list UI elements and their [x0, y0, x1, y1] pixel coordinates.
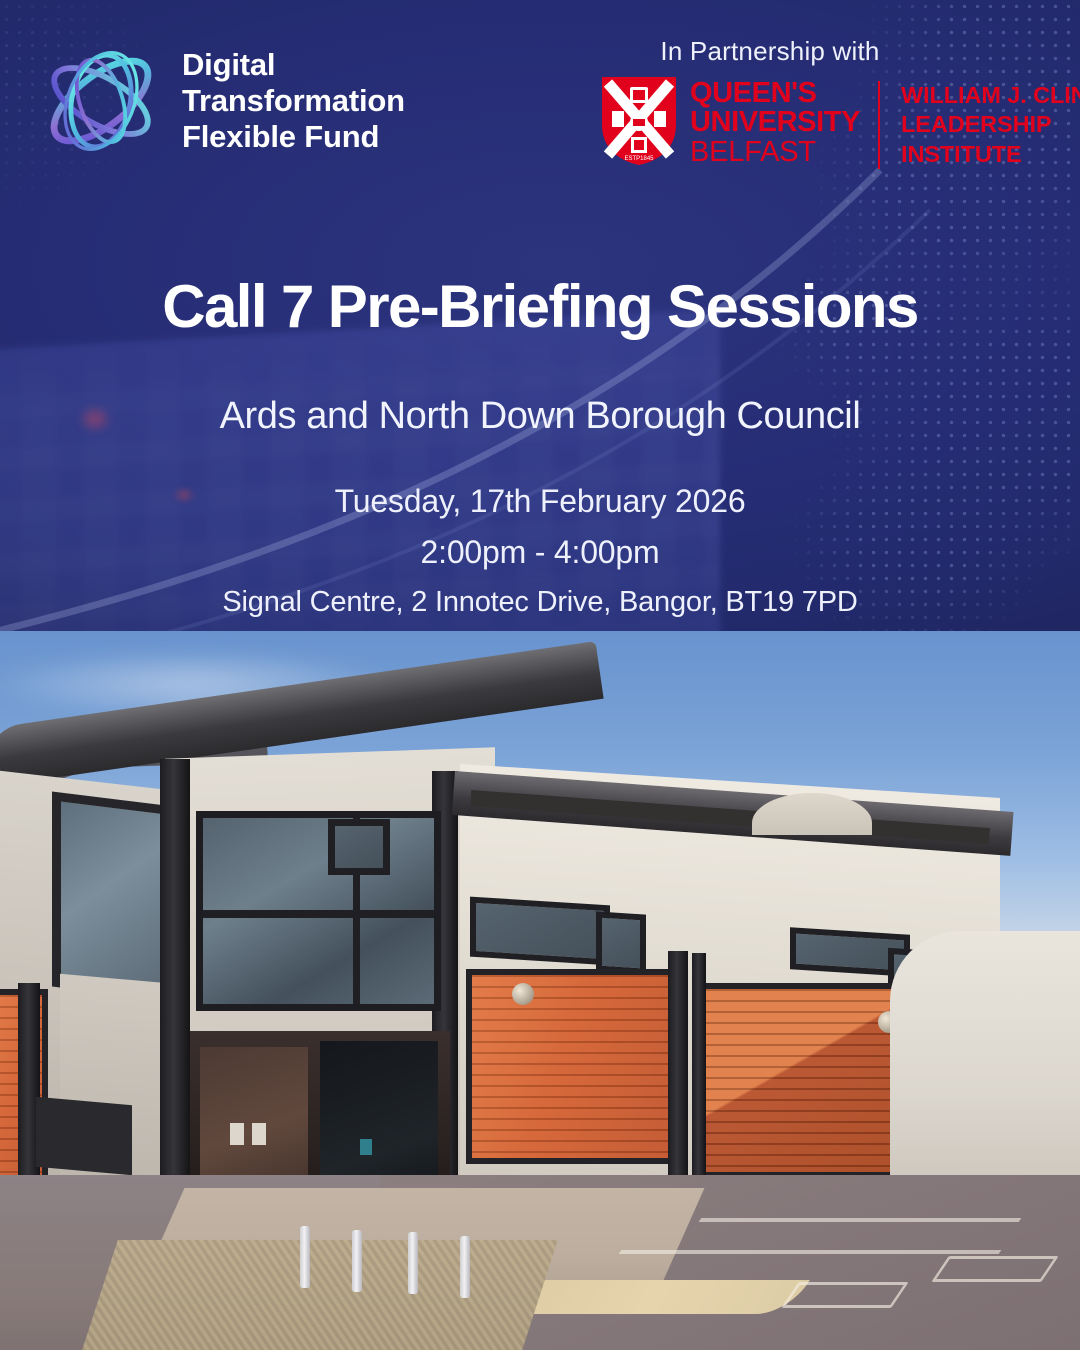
qub-line-2: UNIVERSITY [690, 108, 860, 137]
event-poster: Digital Transformation Flexible Fund In … [0, 0, 1080, 1350]
venue-photo [0, 631, 1080, 1350]
timber-cladding-1 [466, 969, 676, 1164]
left-dark-panel [36, 1097, 132, 1175]
brand-name: Digital Transformation Flexible Fund [182, 47, 405, 156]
event-time: 2:00pm - 4:00pm [0, 534, 1080, 571]
bollard [460, 1236, 470, 1298]
partnership-label: In Partnership with [560, 36, 980, 67]
qub-line-1: QUEEN'S [690, 79, 860, 108]
entrance-sign-1 [230, 1123, 244, 1145]
qub-logo: ESTP1845 QUEEN'S UNIVERSITY BELFAST [560, 75, 860, 168]
small-window-1 [328, 819, 390, 875]
central-pillar-left [160, 759, 190, 1229]
event-venue: Signal Centre, 2 Innotec Drive, Bangor, … [0, 586, 1080, 619]
entrance-accent [360, 1139, 372, 1155]
right-window-1 [470, 897, 610, 966]
bollard [300, 1226, 310, 1288]
bollard [352, 1230, 362, 1292]
central-glazing [196, 811, 441, 1011]
wjc-line-3: INSTITUTE [901, 140, 1080, 169]
bollard-group [300, 1220, 600, 1310]
parking-bay-marking-1 [781, 1282, 909, 1308]
event-organisation: Ards and North Down Borough Council [0, 395, 1080, 438]
parking-bay-marking-2 [931, 1256, 1059, 1282]
right-window-2 [596, 911, 646, 974]
partnership-block: In Partnership with [560, 36, 1080, 169]
brand-lockup: Digital Transformation Flexible Fund [38, 36, 405, 166]
wjc-line-2: LEADERSHIP [901, 110, 1080, 139]
glazing-mullion-h [203, 910, 434, 918]
parking-line-1 [699, 1218, 1022, 1222]
parking-line-2 [619, 1250, 1002, 1254]
event-date: Tuesday, 17th February 2026 [0, 483, 1080, 520]
entrance-sign-2 [252, 1123, 266, 1145]
right-pillar-1 [668, 951, 688, 1201]
wall-lamp-1 [512, 983, 534, 1005]
queens-university-belfast-shield-icon: ESTP1845 [600, 75, 678, 167]
wjc-line-1: WILLIAM J. CLINTON [901, 81, 1080, 110]
atom-orbit-icon [38, 36, 164, 166]
bollard [408, 1232, 418, 1294]
qub-line-3: BELFAST [690, 137, 860, 168]
right-pillar-2 [692, 953, 706, 1201]
page-title: Call 7 Pre-Briefing Sessions [0, 272, 1080, 341]
poster-header: Digital Transformation Flexible Fund In … [0, 0, 1080, 631]
svg-text:ESTP1845: ESTP1845 [624, 156, 654, 162]
clinton-institute-logo: WILLIAM J. CLINTON LEADERSHIP INSTITUTE [878, 81, 1080, 169]
timber-cladding-2 [700, 983, 912, 1178]
